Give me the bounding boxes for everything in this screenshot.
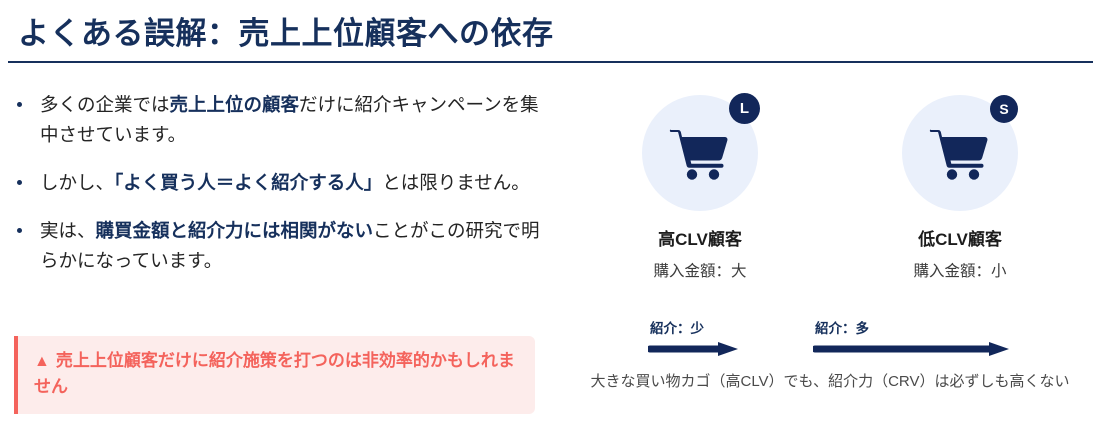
bullet-list: 多くの企業では売上上位の顧客だけに紹介キャンペーンを集中させています。 しかし、…	[14, 90, 554, 276]
bullet-dot-icon	[17, 228, 22, 233]
bullet-emphasis: 購買金額と紹介力には相関がない	[96, 220, 374, 241]
node-title: 低CLV顧客	[875, 225, 1045, 250]
warning-text: 売上上位顧客だけに紹介施策を打つのは非効率的かもしれません	[34, 351, 515, 396]
page-title: よくある誤解：売上上位顧客への依存	[18, 8, 554, 53]
bullet-dot-icon	[17, 180, 22, 185]
bullet-lead: 実は、	[40, 220, 96, 241]
bullet-emphasis: 「よく買う人＝よく紹介する人」	[114, 172, 382, 193]
diagram-node-high-clv: L 高CLV顧客 購入金額：大	[615, 95, 785, 281]
arrow-label: 紹介：多	[813, 317, 1011, 337]
title-divider	[8, 61, 1093, 63]
clv-crv-diagram: L 高CLV顧客 購入金額：大 S 低CLV顧客 購入金額：小 紹介：少 紹介：…	[560, 95, 1100, 415]
node-title: 高CLV顧客	[615, 225, 785, 250]
list-item: 実は、購買金額と紹介力には相関がないことがこの研究で明らかになっています。	[14, 216, 554, 276]
node-subtitle: 購入金額：大	[615, 259, 785, 281]
diagram-caption: 大きな買い物カゴ（高CLV）でも、紹介力（CRV）は必ずしも高くない	[560, 370, 1100, 391]
arrow-referral-many: 紹介：多	[813, 317, 1011, 357]
list-item: しかし、「よく買う人＝よく紹介する人」とは限りません。	[14, 168, 554, 198]
diagram-node-low-clv: S 低CLV顧客 購入金額：小	[875, 95, 1045, 281]
bullet-text: 多くの企業では売上上位の顧客だけに紹介キャンペーンを集中させています。	[40, 94, 539, 145]
node-avatar: L	[642, 95, 758, 211]
bullet-lead: しかし、	[40, 172, 114, 193]
bullet-text: 実は、購買金額と紹介力には相関がないことがこの研究で明らかになっています。	[40, 220, 540, 271]
shopping-cart-icon	[669, 125, 731, 181]
warning-callout: ▲売上上位顧客だけに紹介施策を打つのは非効率的かもしれません	[14, 336, 535, 414]
arrow-right-icon	[813, 341, 1011, 357]
shopping-cart-icon	[929, 125, 991, 181]
node-subtitle: 購入金額：小	[875, 259, 1045, 281]
arrow-referral-few: 紹介：少	[648, 317, 740, 357]
arrow-label: 紹介：少	[648, 317, 740, 337]
warning-triangle-icon: ▲	[34, 354, 50, 370]
bullet-dot-icon	[17, 102, 22, 107]
bullet-emphasis: 売上上位の顧客	[170, 94, 300, 115]
arrow-right-icon	[648, 341, 740, 357]
bullet-tail: とは限りません。	[382, 172, 529, 193]
node-badge-size-small: S	[990, 95, 1018, 123]
list-item: 多くの企業では売上上位の顧客だけに紹介キャンペーンを集中させています。	[14, 90, 554, 150]
node-badge-size-large: L	[729, 93, 760, 124]
bullet-lead: 多くの企業では	[40, 94, 170, 115]
bullet-text: しかし、「よく買う人＝よく紹介する人」とは限りません。	[40, 172, 530, 193]
node-avatar: S	[902, 95, 1018, 211]
